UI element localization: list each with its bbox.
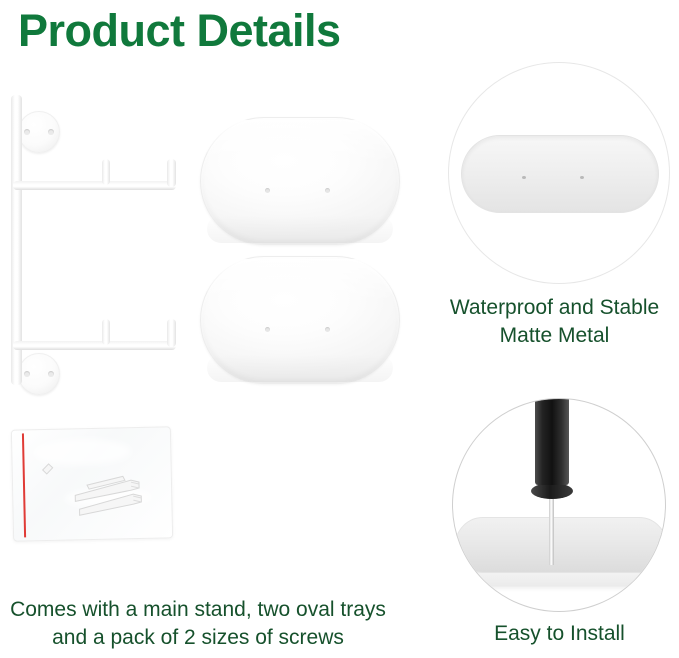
stand-arm-lower-prong-outer — [167, 319, 176, 347]
tray-drain-hole — [325, 188, 330, 193]
wall-plate-upper — [18, 111, 60, 153]
install-tray-basin — [455, 517, 666, 573]
product-image-screw-pack — [11, 426, 173, 541]
perspective-tray-basin — [461, 135, 659, 213]
plate-screw-hole — [48, 371, 54, 377]
screws-illustration — [12, 427, 173, 541]
stand-arm-lower-prong-inner — [102, 319, 110, 345]
screwdriver-shaft — [549, 497, 554, 565]
tray-drain-hole — [325, 327, 330, 332]
tray-drain-hole — [265, 188, 270, 193]
screwdriver-collar — [531, 483, 573, 499]
tray-drain-hole — [265, 327, 270, 332]
product-details-page: Product Details — [0, 0, 679, 658]
wall-plate-lower — [18, 353, 60, 395]
stand-arm-upper-prong-outer — [167, 159, 176, 187]
stand-arm-upper — [13, 181, 176, 190]
plate-screw-hole — [48, 129, 54, 135]
inset-photo-easy-install — [452, 398, 666, 612]
product-image-main-stand — [0, 95, 190, 395]
product-image-oval-tray-top — [200, 117, 400, 245]
product-image-oval-tray-bottom — [200, 256, 400, 384]
tray-drain-hole — [522, 176, 526, 179]
plate-screw-hole — [24, 371, 30, 377]
screwdriver-handle — [535, 398, 569, 485]
caption-waterproof: Waterproof and Stable Matte Metal — [430, 294, 679, 350]
inset-photo-waterproof — [448, 62, 670, 284]
stand-arm-upper-prong-inner — [102, 159, 110, 185]
caption-kit-contents: Comes with a main stand, two oval trays … — [0, 596, 396, 652]
caption-easy-install: Easy to Install — [440, 620, 679, 648]
screw-bag-body — [11, 426, 173, 541]
stand-arm-lower — [13, 341, 176, 350]
plate-screw-hole — [24, 129, 30, 135]
page-title: Product Details — [18, 2, 341, 60]
tray-drain-hole — [580, 176, 584, 179]
